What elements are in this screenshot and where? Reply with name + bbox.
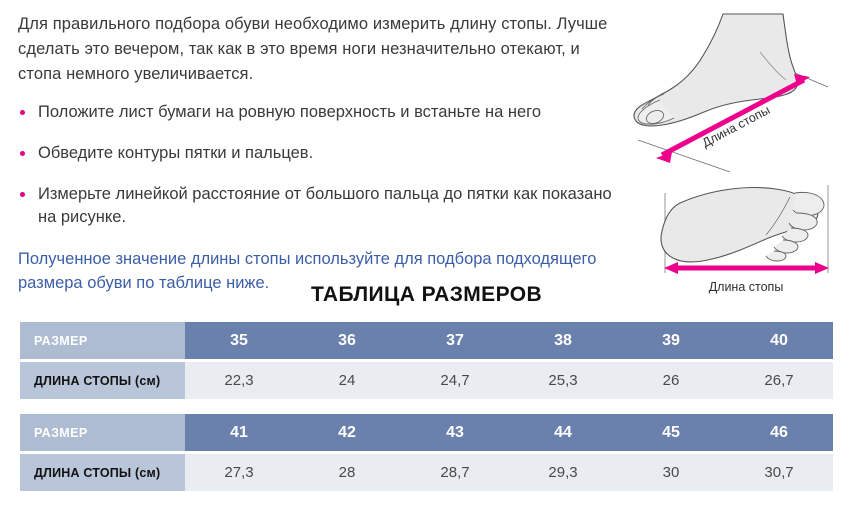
foot-length-cell: 28,7 xyxy=(401,454,509,491)
bullet-dot-icon xyxy=(20,151,25,156)
foot-length-cell: 25,3 xyxy=(509,362,617,399)
size-header-cell: 42 xyxy=(293,414,401,451)
list-item-label: Положите лист бумаги на ровную поверхнос… xyxy=(38,103,541,121)
foot-length-cell: 30 xyxy=(617,454,725,491)
list-item: Измерьте линейкой расстояние от большого… xyxy=(18,183,618,229)
foot-side-view-illustration: Длина стопы xyxy=(620,0,851,180)
size-header-cell: 39 xyxy=(617,322,725,359)
size-header-cell: 40 xyxy=(725,322,833,359)
foot-length-cell: 22,3 xyxy=(185,362,293,399)
bullet-dot-icon xyxy=(20,110,25,115)
size-header-cell: 45 xyxy=(617,414,725,451)
page-title: ТАБЛИЦА РАЗМЕРОВ xyxy=(20,283,833,307)
bullet-dot-icon xyxy=(20,192,25,197)
size-header-cell: 44 xyxy=(509,414,617,451)
foot-length-cell: 27,3 xyxy=(185,454,293,491)
table-row-data: ДЛИНА СТОПЫ (см) 22,3 24 24,7 25,3 26 26… xyxy=(20,362,833,399)
size-header-cell: 46 xyxy=(725,414,833,451)
size-table-block-2: РАЗМЕР 41 42 43 44 45 46 ДЛИНА СТОПЫ (см… xyxy=(20,414,833,491)
table-row-header: РАЗМЕР 35 36 37 38 39 40 xyxy=(20,322,833,359)
table-row-header: РАЗМЕР 41 42 43 44 45 46 xyxy=(20,414,833,451)
size-header-cell: 38 xyxy=(509,322,617,359)
instruction-list: Положите лист бумаги на ровную поверхнос… xyxy=(18,101,618,229)
foot-length-cell: 30,7 xyxy=(725,454,833,491)
row-label-size: РАЗМЕР xyxy=(20,414,185,451)
length-arrow-icon xyxy=(664,262,829,274)
foot-sole-shape xyxy=(661,188,824,262)
size-header-cell: 36 xyxy=(293,322,401,359)
foot-length-cell: 24,7 xyxy=(401,362,509,399)
instructions-panel: Для правильного подбора обуви необходимо… xyxy=(18,12,618,295)
list-item-label: Обведите контуры пятки и пальцев. xyxy=(38,144,313,162)
row-label-foot-length: ДЛИНА СТОПЫ (см) xyxy=(20,362,185,399)
foot-length-cell: 26,7 xyxy=(725,362,833,399)
foot-length-cell: 29,3 xyxy=(509,454,617,491)
list-item-label: Измерьте линейкой расстояние от большого… xyxy=(38,185,612,226)
foot-shape xyxy=(634,14,798,126)
foot-length-cell: 28 xyxy=(293,454,401,491)
size-header-cell: 43 xyxy=(401,414,509,451)
row-label-foot-length: ДЛИНА СТОПЫ (см) xyxy=(20,454,185,491)
size-header-cell: 35 xyxy=(185,322,293,359)
foot-length-cell: 24 xyxy=(293,362,401,399)
list-item: Обведите контуры пятки и пальцев. xyxy=(18,142,618,165)
size-header-cell: 41 xyxy=(185,414,293,451)
foot-length-cell: 26 xyxy=(617,362,725,399)
table-row-data: ДЛИНА СТОПЫ (см) 27,3 28 28,7 29,3 30 30… xyxy=(20,454,833,491)
intro-paragraph: Для правильного подбора обуви необходимо… xyxy=(18,12,618,87)
size-header-cell: 37 xyxy=(401,322,509,359)
size-table-block-1: РАЗМЕР 35 36 37 38 39 40 ДЛИНА СТОПЫ (см… xyxy=(20,322,833,399)
list-item: Положите лист бумаги на ровную поверхнос… xyxy=(18,101,618,124)
row-label-size: РАЗМЕР xyxy=(20,322,185,359)
